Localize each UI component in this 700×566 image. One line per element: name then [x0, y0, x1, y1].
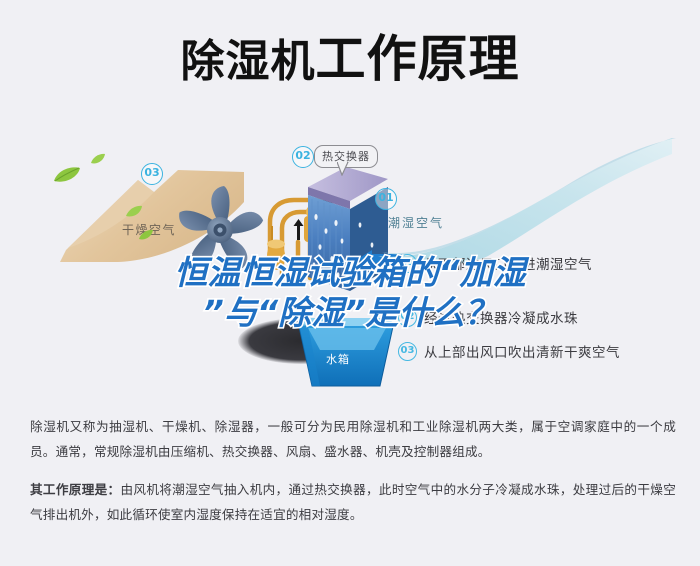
leaf-icon	[138, 228, 154, 246]
infographic-illustration: 除湿机工作原理 干燥空气	[0, 0, 700, 405]
page-title-part-b: 工作原理	[316, 31, 520, 87]
badge-02-heat-exchanger: 02	[292, 146, 314, 168]
page-root: 除湿机工作原理 干燥空气	[0, 0, 700, 566]
step-item-01: 01 从下部进风口吸进潮湿空气	[398, 253, 592, 273]
badge-03-dry-air: 03	[141, 163, 163, 185]
water-tank-label: 水箱	[326, 351, 350, 367]
page-title: 除湿机工作原理	[0, 34, 700, 84]
leaf-icon	[52, 165, 82, 190]
step-text: 经过热交换器冷凝成水珠	[424, 307, 578, 327]
step-number: 03	[398, 342, 417, 361]
callout-tail-icon	[337, 162, 349, 176]
badge-01-humid-air: 01	[375, 188, 397, 210]
step-item-03: 03 从上部出风口吹出清新干爽空气	[398, 341, 620, 361]
body-paragraph-2: 其工作原理是：由风机将潮湿空气抽入机内，通过热交换器，此时空气中的水分子冷凝成水…	[30, 478, 676, 527]
humid-air-arrow	[372, 138, 682, 266]
leaf-icon	[125, 205, 143, 223]
body-paragraph-1: 除湿机又称为抽湿机、干燥机、除湿器，一般可分为民用除湿机和工业除湿机两大类，属于…	[30, 415, 676, 464]
body-paragraph-2-rest: 由风机将潮湿空气抽入机内，通过热交换器，此时空气中的水分子冷凝成水珠，处理过后的…	[30, 482, 676, 522]
article-body: 除湿机又称为抽湿机、干燥机、除湿器，一般可分为民用除湿机和工业除湿机两大类，属于…	[30, 415, 676, 527]
step-item-02: 02 经过热交换器冷凝成水珠	[398, 307, 578, 327]
leaf-icon	[90, 152, 106, 170]
body-paragraph-2-lead: 其工作原理是：	[30, 482, 120, 497]
step-text: 从上部出风口吹出清新干爽空气	[424, 341, 620, 361]
humid-air-label: 潮湿空气	[388, 214, 444, 231]
step-number: 01	[398, 254, 417, 273]
step-number: 02	[398, 308, 417, 327]
step-text: 从下部进风口吸进潮湿空气	[424, 253, 592, 273]
page-title-part-a: 除湿机	[181, 37, 316, 86]
